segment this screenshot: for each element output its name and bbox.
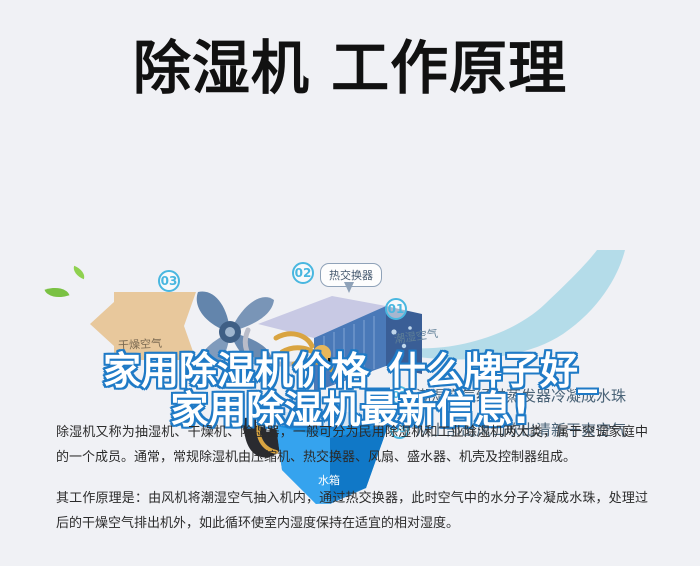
paragraph-2: 其工作原理是：由风机将潮湿空气抽入机内，通过热交换器，此时空气中的水分子冷凝成水… (56, 486, 648, 537)
diagram-badge-02: 02 (292, 262, 314, 284)
leaf-icon (45, 283, 70, 302)
callout-pointer-icon (344, 282, 354, 293)
diagram-badge-03: 03 (158, 270, 180, 292)
page-root: 除湿机 工作原理 干燥空气 (0, 0, 700, 566)
leaf-icon (71, 266, 87, 280)
dehumidifier-illustration: 干燥空气 (0, 120, 700, 410)
overlay-headline: 家用除湿机价格_什么牌子好_家用除湿机最新信息! (95, 352, 605, 430)
page-header: 除湿机 工作原理 (0, 18, 700, 118)
article-body: 除湿机又称为抽湿机、干燥机、除湿器，一般可分为民用除湿机和工业除湿机两大类，属于… (56, 420, 648, 551)
paragraph-1: 除湿机又称为抽湿机、干燥机、除湿器，一般可分为民用除湿机和工业除湿机两大类，属于… (56, 420, 648, 471)
diagram-badge-01: 01 (385, 298, 407, 320)
page-title: 除湿机 工作原理 (133, 39, 567, 97)
